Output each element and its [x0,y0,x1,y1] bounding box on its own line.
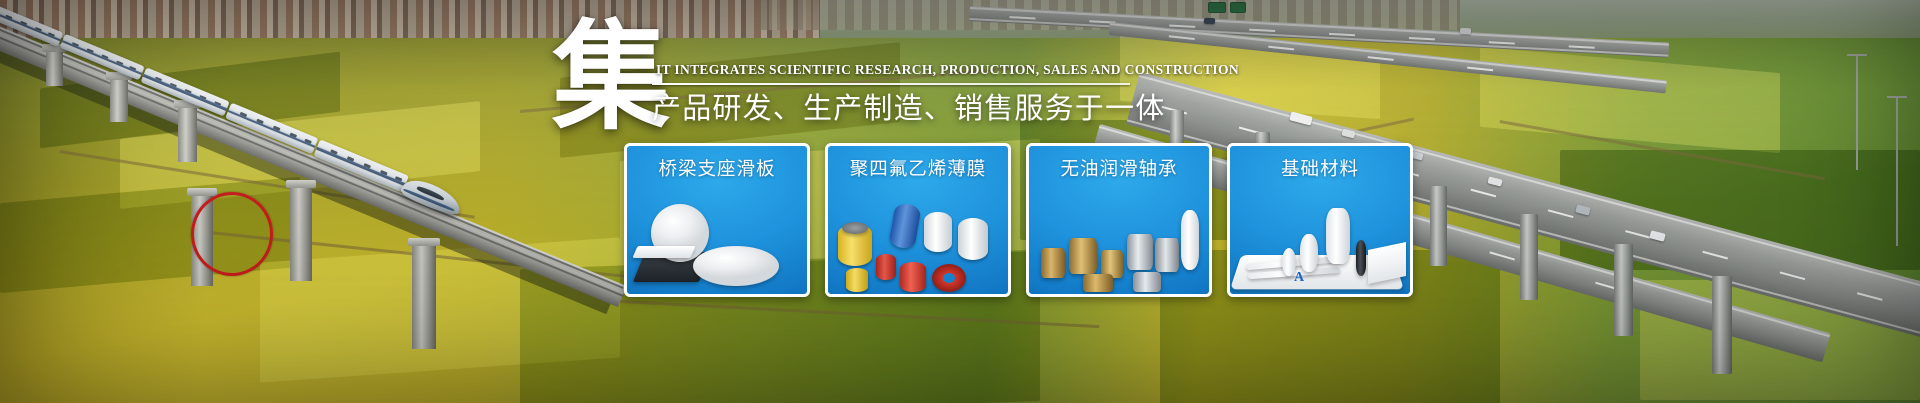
film-roll-red-large [900,262,926,292]
utility-pole [1896,96,1898,246]
product-image-bridge-bearing [627,190,807,294]
lane-dash [1471,189,1497,198]
viaduct-pier [290,186,312,281]
lane-dash [1780,271,1806,280]
headline-block: 集 IT INTEGRATES SCIENTIFIC RESEARCH, PRO… [552,18,1172,143]
film-roll-yellow-small [846,268,868,292]
material-label-a: A [1294,270,1304,286]
lane-dash [1625,230,1651,239]
headline-divider [652,83,1130,85]
viaduct-pier [46,50,63,86]
highway-sign-gantry [1230,2,1246,13]
lane-dash [1489,251,1515,260]
lane-dash [1249,28,1275,31]
steel-bushing-b [1155,238,1179,272]
lane-dash [1702,251,1728,260]
headline-text-group: IT INTEGRATES SCIENTIFIC RESEARCH, PRODU… [652,62,1172,125]
ptfe-cylinder-mid [1300,234,1318,272]
steel-bushing-c [1133,272,1161,292]
product-card-basic-materials[interactable]: 基础材料 A [1227,143,1413,297]
chinese-tagline: 产品研发、生产制造、销售服务于一体 [652,91,1172,125]
bronze-bushing-b [1069,238,1097,274]
lane-dash [1857,292,1883,301]
product-card-oil-free-bearing[interactable]: 无油润滑轴承 [1026,143,1212,297]
white-slide-plate [632,246,695,258]
utility-pole [1856,54,1858,170]
bronze-bushing-a [1041,248,1065,278]
ptfe-rod-black [1356,240,1366,276]
product-image-basic-materials: A [1230,190,1410,294]
lane-dash [1569,45,1595,48]
viaduct-pier [178,106,197,162]
vehicle-car [1460,28,1471,35]
product-card-title: 基础材料 [1230,155,1410,181]
highway-pier [1614,244,1633,336]
highway-sign-gantry [1208,2,1226,13]
film-roll-core-grey [842,222,868,234]
lane-dash [1467,66,1493,71]
product-card-title: 无油润滑轴承 [1029,155,1209,181]
product-image-bearings [1029,190,1209,294]
steel-bushing-a [1127,234,1153,270]
product-card-ptfe-film[interactable]: 聚四氟乙烯薄膜 [825,143,1011,297]
film-ring-red [932,264,966,292]
lane-dash [1409,37,1435,40]
vehicle-car [1204,18,1215,25]
hero-banner: 集 IT INTEGRATES SCIENTIFIC RESEARCH, PRO… [0,0,1920,403]
highway-pier [1430,186,1447,266]
product-card-title: 桥梁支座滑板 [627,155,807,181]
product-card-title: 聚四氟乙烯薄膜 [828,155,1008,181]
bronze-bushing-d [1083,274,1113,292]
ptfe-cylinder-tall [1326,208,1350,264]
lane-dash [1368,56,1394,61]
english-tagline: IT INTEGRATES SCIENTIFIC RESEARCH, PRODU… [652,62,1172,78]
product-image-ptfe-film [828,190,1008,294]
film-roll-blue [888,202,921,250]
highway-pier [1520,214,1538,300]
ptfe-disc-flat [693,246,779,286]
highway-pier [1712,276,1732,374]
film-roll-red-small [876,254,896,280]
lane-dash [1268,45,1294,50]
film-roll-white-a [924,212,952,252]
red-circle-annotation [191,192,273,276]
lane-dash [1548,209,1574,218]
product-card-list: 桥梁支座滑板 聚四氟乙烯薄膜 [624,143,1413,297]
lane-dash [1169,35,1195,40]
lane-dash [1169,24,1195,27]
viaduct-pier [412,244,436,349]
lane-dash [1489,41,1515,44]
film-roll-white-b [958,218,988,260]
viaduct-pier [110,78,128,122]
steel-sleeve-tall [1181,210,1199,270]
lane-dash [1329,32,1355,35]
product-card-bridge-bearing-slide-plate[interactable]: 桥梁支座滑板 [624,143,810,297]
